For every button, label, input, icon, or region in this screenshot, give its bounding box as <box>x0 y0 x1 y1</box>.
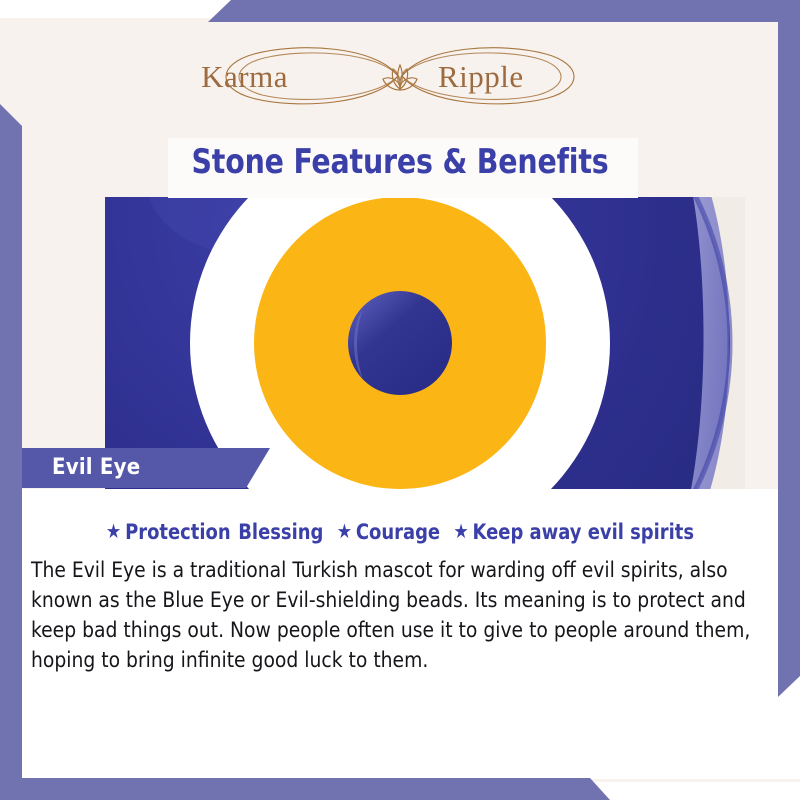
stone-name-label: Evil Eye <box>52 448 140 488</box>
hero-image <box>105 197 745 489</box>
star-icon: ★ <box>337 521 352 541</box>
benefit-label: Blessing <box>238 520 323 544</box>
benefit-item: Blessing <box>238 519 323 544</box>
brand-name-left: Karma <box>201 59 288 94</box>
benefit-label: Courage <box>356 520 440 544</box>
infographic-card: Karma Ripple Stone Features & Benefits <box>0 0 800 800</box>
star-icon: ★ <box>453 521 468 541</box>
benefit-item: ★Keep away evil spirits <box>453 519 694 544</box>
brand-name-right: Ripple <box>438 59 524 94</box>
brand-logo: Karma Ripple <box>0 40 800 112</box>
page-title: Stone Features & Benefits <box>28 142 772 182</box>
star-icon: ★ <box>106 521 121 541</box>
benefit-label: Keep away evil spirits <box>473 520 694 544</box>
benefit-item: ★Protection <box>106 519 231 544</box>
benefit-label: Protection <box>125 520 231 544</box>
benefits-row: ★Protection Blessing ★Courage ★Keep away… <box>20 518 780 544</box>
lotus-infinity-emblem-icon: Karma Ripple <box>180 40 620 112</box>
evil-eye-bead-graphic <box>105 197 745 489</box>
benefit-item: ★Courage <box>337 519 440 544</box>
stone-description: The Evil Eye is a traditional Turkish ma… <box>31 556 751 676</box>
